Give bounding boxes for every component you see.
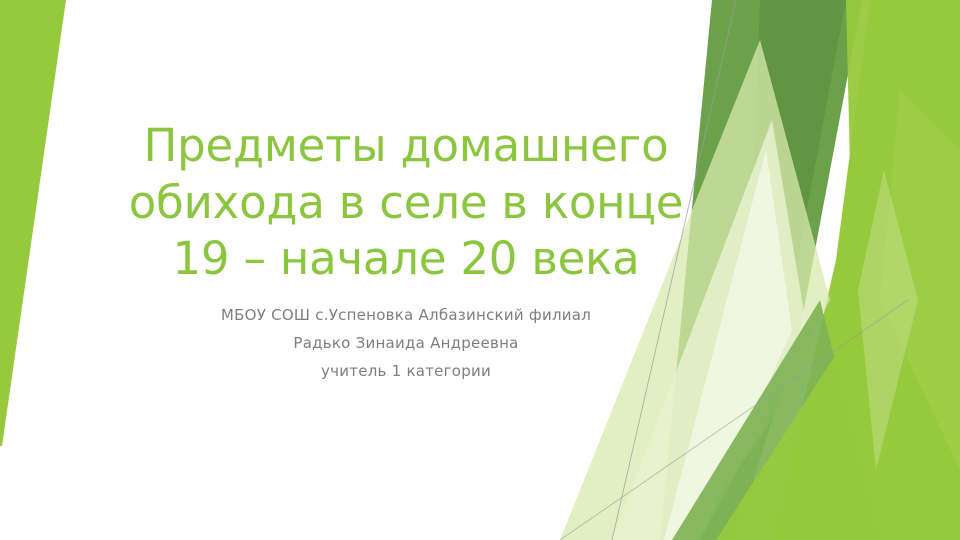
subtitle-list: МБОУ СОШ с.Успеновка Албазинский филиал …	[96, 302, 716, 385]
shape-pale-right-highlight	[858, 170, 918, 470]
shape-lime-bottom-wedge	[716, 320, 960, 540]
page-title: Предметы домашнего обихода в селе в конц…	[96, 118, 716, 288]
shape-lime-highlight	[880, 90, 960, 470]
presentation-slide: Предметы домашнего обихода в селе в конц…	[0, 0, 960, 540]
subtitle-line-organization: МБОУ СОШ с.Успеновка Албазинский филиал	[96, 302, 716, 330]
subtitle-line-role: учитель 1 категории	[96, 358, 716, 386]
shape-lime-base	[772, 0, 960, 540]
subtitle-line-author: Радько Зинаида Андреевна	[96, 330, 716, 358]
title-text-block: Предметы домашнего обихода в селе в конц…	[96, 118, 716, 385]
shape-green-core	[744, 0, 846, 470]
shape-lime-column	[800, 0, 960, 540]
